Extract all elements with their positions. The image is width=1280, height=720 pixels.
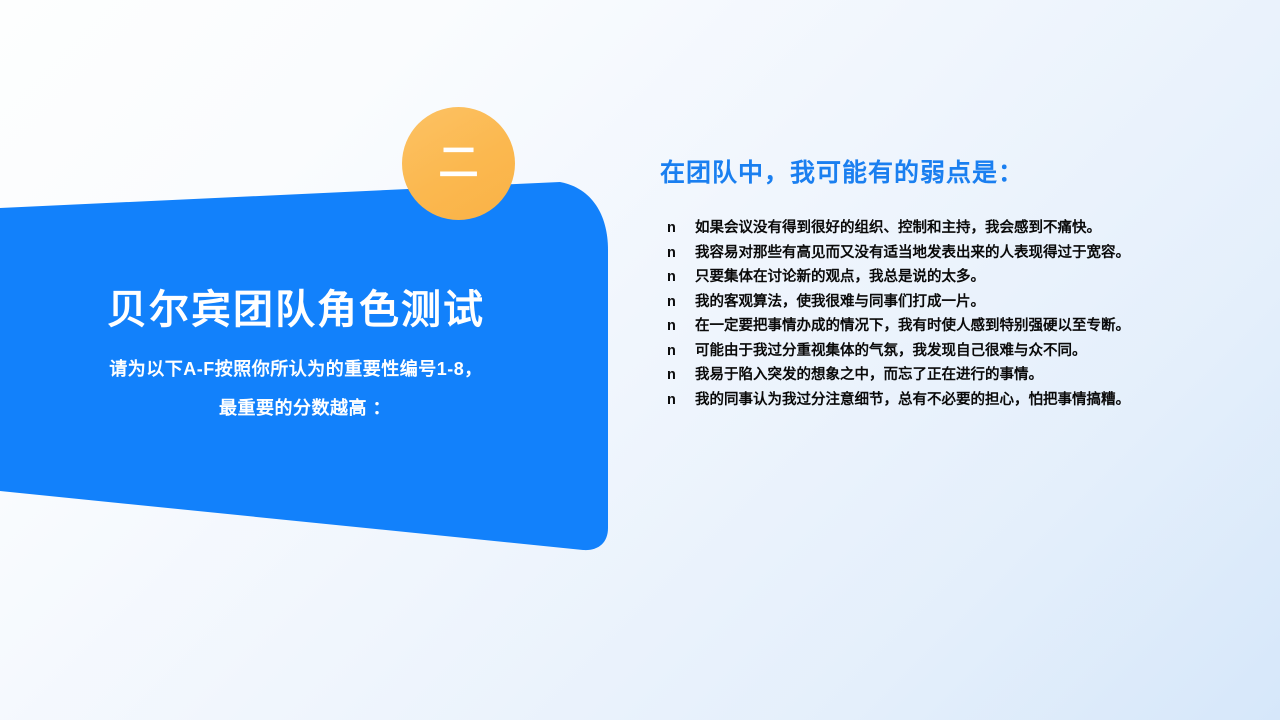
list-item-label: 我的客观算法，使我很难与同事们打成一片。 — [695, 291, 1215, 315]
bullet-marker-icon: n — [667, 217, 676, 241]
list-item-label: 可能由于我过分重视集体的气氛，我发现自己很难与众不同。 — [695, 340, 1215, 364]
bullet-marker-icon: n — [667, 389, 676, 413]
banner-subtitle-line-2: 最重要的分数越高 ： — [0, 397, 592, 420]
weakness-bullet-list: n如果会议没有得到很好的组织、控制和主持，我会感到不痛快。n我容易对那些有高见而… — [660, 217, 1240, 412]
list-item: n我易于陷入突发的想象之中，而忘了正在进行的事情。 — [660, 364, 1240, 388]
section-heading: 在团队中，我可能有的弱点是： — [660, 158, 1240, 189]
list-item: n我容易对那些有高见而又没有适当地发表出来的人表现得过于宽容。 — [660, 242, 1240, 266]
bullet-marker-icon: n — [667, 242, 676, 266]
slide-canvas: 贝尔宾团队角色测试 请为以下A-F按照你所认为的重要性编号1-8， 最重要的分数… — [0, 0, 1280, 720]
list-item-label: 我易于陷入突发的想象之中，而忘了正在进行的事情。 — [695, 364, 1215, 388]
banner-text-block: 贝尔宾团队角色测试 请为以下A-F按照你所认为的重要性编号1-8， 最重要的分数… — [0, 286, 592, 419]
list-item-label: 在一定要把事情办成的情况下，我有时使人感到特别强硬以至专断。 — [695, 315, 1215, 339]
bullet-marker-icon: n — [667, 291, 676, 315]
section-number-badge: 二 — [402, 107, 515, 220]
content-column: 在团队中，我可能有的弱点是： n如果会议没有得到很好的组织、控制和主持，我会感到… — [660, 158, 1240, 413]
bullet-marker-icon: n — [667, 340, 676, 364]
list-item: n如果会议没有得到很好的组织、控制和主持，我会感到不痛快。 — [660, 217, 1240, 241]
list-item: n可能由于我过分重视集体的气氛，我发现自己很难与众不同。 — [660, 340, 1240, 364]
list-item-label: 我的同事认为我过分注意细节，总有不必要的担心，怕把事情搞糟。 — [695, 389, 1215, 413]
list-item: n只要集体在讨论新的观点，我总是说的太多。 — [660, 266, 1240, 290]
bullet-marker-icon: n — [667, 315, 676, 339]
list-item-label: 我容易对那些有高见而又没有适当地发表出来的人表现得过于宽容。 — [695, 242, 1215, 266]
banner-subtitle-line-1: 请为以下A-F按照你所认为的重要性编号1-8， — [0, 358, 592, 381]
section-number-label: 二 — [439, 143, 479, 183]
list-item-label: 只要集体在讨论新的观点，我总是说的太多。 — [695, 266, 1215, 290]
list-item-label: 如果会议没有得到很好的组织、控制和主持，我会感到不痛快。 — [695, 217, 1215, 241]
list-item: n我的客观算法，使我很难与同事们打成一片。 — [660, 291, 1240, 315]
page-title: 贝尔宾团队角色测试 — [0, 286, 592, 334]
bullet-marker-icon: n — [667, 266, 676, 290]
bullet-marker-icon: n — [667, 364, 676, 388]
list-item: n我的同事认为我过分注意细节，总有不必要的担心，怕把事情搞糟。 — [660, 389, 1240, 413]
list-item: n在一定要把事情办成的情况下，我有时使人感到特别强硬以至专断。 — [660, 315, 1240, 339]
